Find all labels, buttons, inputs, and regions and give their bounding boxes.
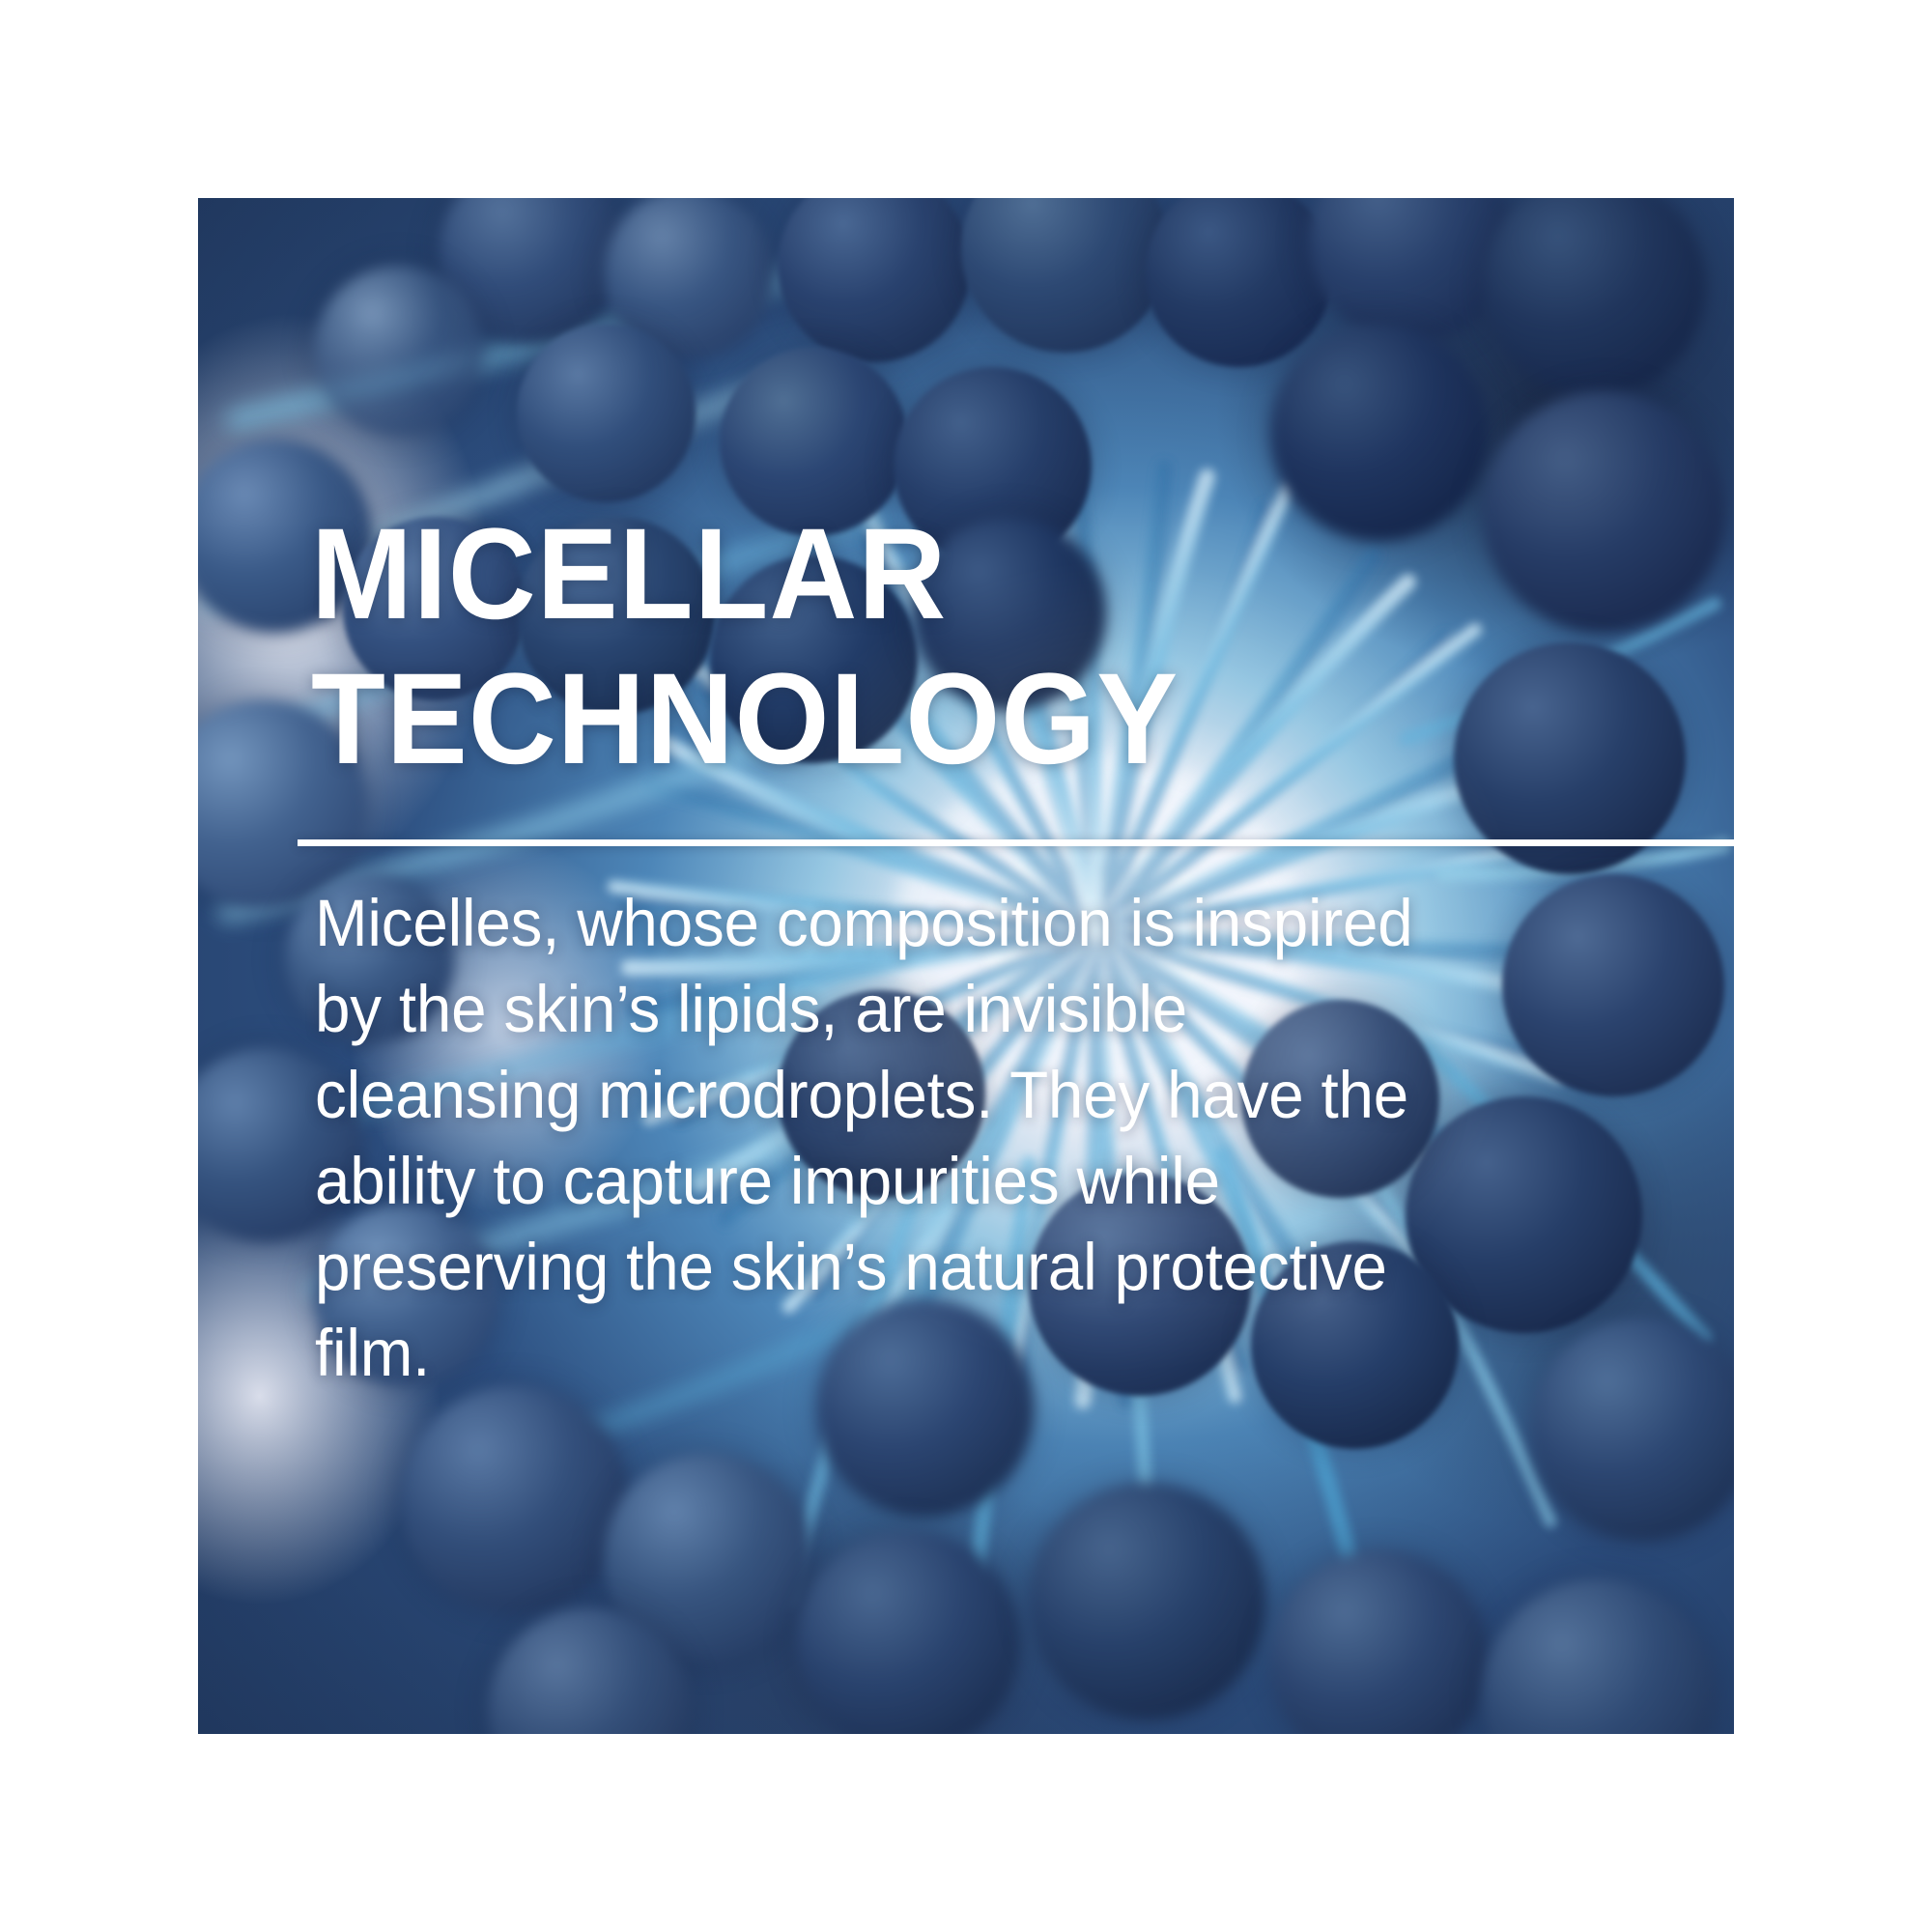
page-canvas: MICELLAR TECHNOLOGY Micelles, whose comp… bbox=[0, 0, 1932, 1932]
body-line-1: Micelles, whose composition is inspired bbox=[315, 880, 1636, 966]
body-line-2: by the skin’s lipids, are invisible bbox=[315, 966, 1636, 1052]
title-divider-rule bbox=[298, 839, 1734, 846]
body-line-4: ability to capture impurities while bbox=[315, 1138, 1636, 1224]
text-overlay: MICELLAR TECHNOLOGY Micelles, whose comp… bbox=[198, 198, 1734, 1734]
micellar-technology-card: MICELLAR TECHNOLOGY Micelles, whose comp… bbox=[198, 198, 1734, 1734]
title-line-1: MICELLAR bbox=[311, 502, 1179, 647]
body-paragraph: Micelles, whose composition is inspired … bbox=[315, 880, 1636, 1396]
title-line-2: TECHNOLOGY bbox=[311, 647, 1179, 792]
body-line-3: cleansing microdroplets. They have the bbox=[315, 1052, 1636, 1138]
body-line-5: preserving the skin’s natural protective bbox=[315, 1224, 1636, 1310]
page-title: MICELLAR TECHNOLOGY bbox=[311, 502, 1179, 792]
body-line-6: film. bbox=[315, 1310, 1636, 1396]
